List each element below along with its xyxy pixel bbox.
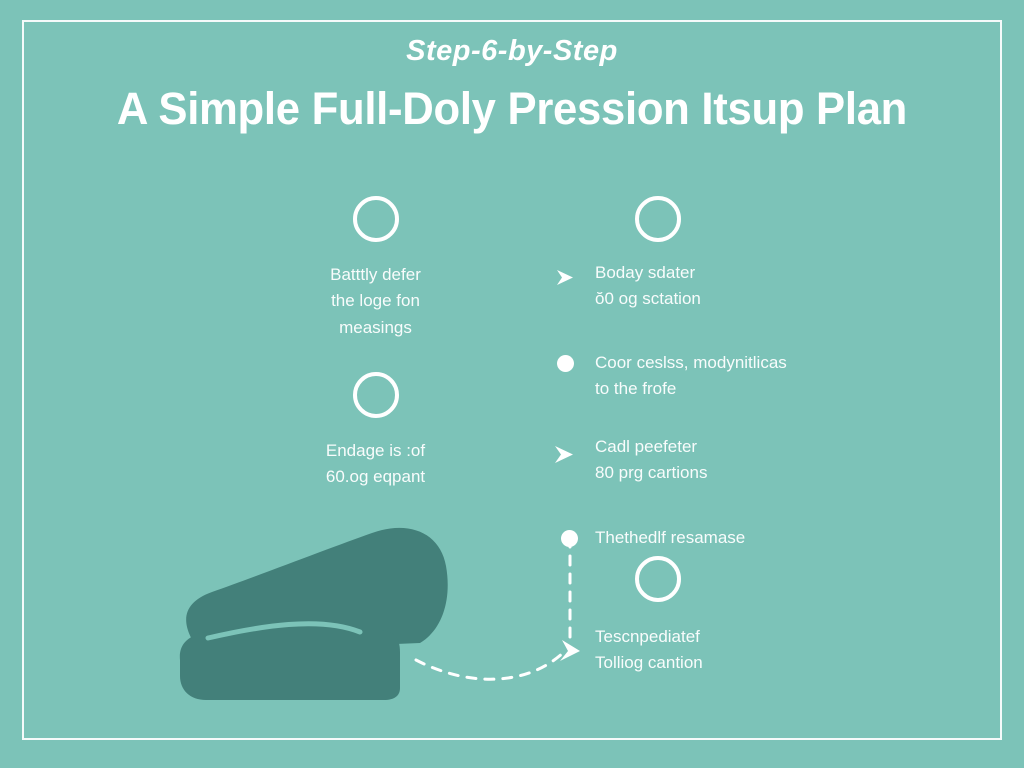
chevron-right-icon xyxy=(560,640,580,661)
poster-header: Step-6-by-Step A Simple Full-Doly Pressi… xyxy=(0,36,1024,133)
dashed-connector-path xyxy=(380,520,610,695)
page-title: A Simple Full-Doly Pression Itsup Plan xyxy=(15,84,1008,134)
right-step-1-label: Boday sdater ŏ0 og sctation xyxy=(595,260,895,313)
poster-canvas: Step-6-by-Step A Simple Full-Doly Pressi… xyxy=(0,0,1024,768)
right-step-4-label: Thethedlf resamase xyxy=(595,525,895,551)
chevron-right-icon xyxy=(553,266,583,290)
ring-outline-icon xyxy=(353,372,399,418)
right-step-4: Thethedlf resamase xyxy=(595,525,895,551)
right-step-3: Cadl peefeter 80 prg cartions xyxy=(595,434,895,487)
right-step-2-label: Coor ceslss, modynitlicas to the frofe xyxy=(595,350,915,403)
right-step-1: Boday sdater ŏ0 og sctation xyxy=(595,196,895,313)
dot-filled-icon xyxy=(557,355,574,372)
eyebrow-label: Step-6-by-Step xyxy=(0,36,1024,68)
right-step-5: Tescnpediatef Tolliog cantion xyxy=(595,556,895,677)
right-step-3-label: Cadl peefeter 80 prg cartions xyxy=(595,434,895,487)
ring-outline-icon xyxy=(635,556,681,602)
right-step-2: Coor ceslss, modynitlicas to the frofe xyxy=(595,350,915,403)
left-step-1: Batttly defer the loge fon measings xyxy=(303,196,448,341)
right-step-5-label: Tescnpediatef Tolliog cantion xyxy=(595,624,895,677)
chevron-right-icon xyxy=(551,442,583,468)
left-step-1-label: Batttly defer the loge fon measings xyxy=(303,262,448,341)
left-step-2: Endage is :of 60.og eqpant xyxy=(303,372,448,491)
ring-outline-icon xyxy=(353,196,399,242)
ring-outline-icon xyxy=(635,196,681,242)
